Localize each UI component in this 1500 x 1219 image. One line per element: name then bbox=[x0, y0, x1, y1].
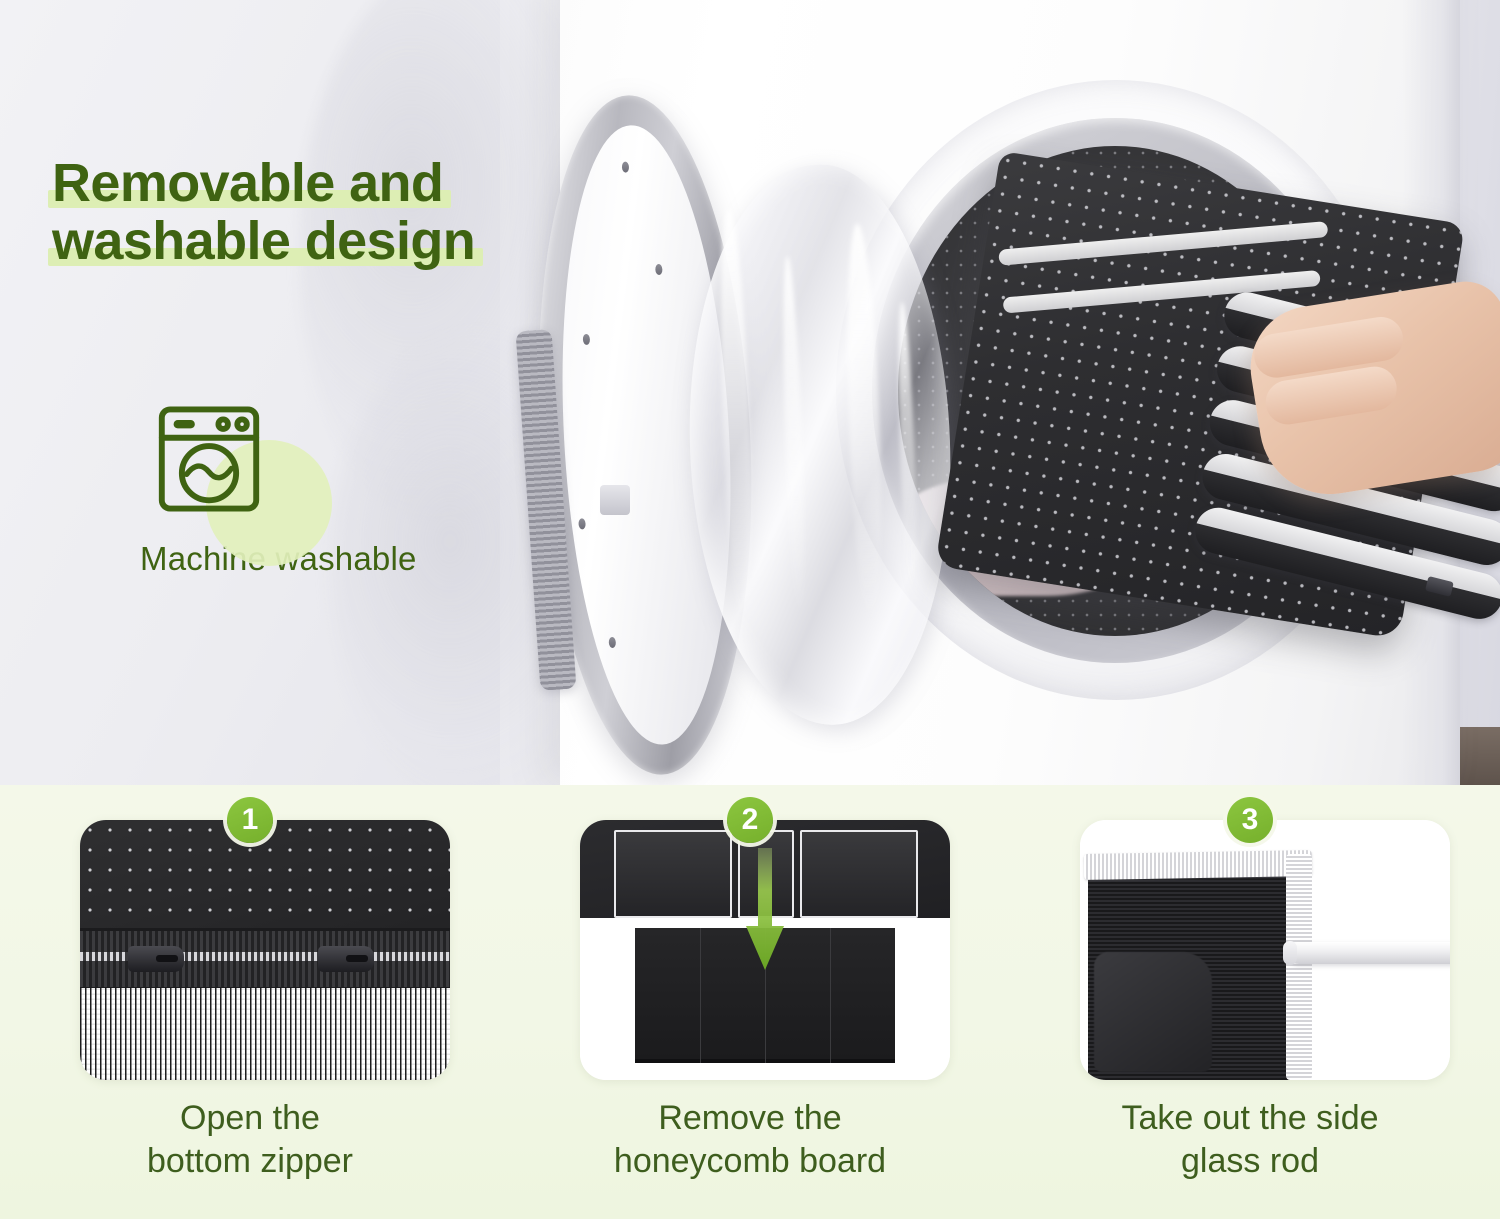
headline-block: Removable and washable design bbox=[52, 155, 572, 271]
step-1-caption-line-2: bottom zipper bbox=[0, 1140, 500, 1183]
headline-line-2: washable design bbox=[52, 213, 475, 269]
step-3-badge: 3 bbox=[1227, 797, 1273, 843]
step-1-mesh-fabric bbox=[80, 820, 450, 940]
glass-reflection bbox=[716, 208, 757, 629]
washing-machine-icon bbox=[150, 400, 268, 518]
steps-section: 1 Open the bottom zipper bbox=[0, 785, 1500, 1219]
step-3-caption-line-2: glass rod bbox=[1000, 1140, 1500, 1183]
binding-tape-side bbox=[1286, 854, 1312, 1080]
glass-rod-end bbox=[1283, 941, 1297, 965]
step-3-caption-line-1: Take out the side bbox=[1000, 1097, 1500, 1140]
step-2-caption: Remove the honeycomb board bbox=[500, 1097, 1000, 1183]
step-2: 2 Remove the honeycomb board bbox=[500, 785, 1000, 1219]
machine-washable-feature: Machine washable bbox=[140, 400, 470, 578]
step-3-caption: Take out the side glass rod bbox=[1000, 1097, 1500, 1183]
step-1: 1 Open the bottom zipper bbox=[0, 785, 500, 1219]
step-3: 3 Take out the side glass rod bbox=[1000, 785, 1500, 1219]
headline-line-2-text: washable design bbox=[52, 211, 475, 271]
glass-reflection bbox=[842, 223, 886, 624]
step-1-image-card bbox=[80, 820, 450, 1080]
board-seam bbox=[830, 928, 831, 1063]
glass-reflection bbox=[895, 302, 919, 602]
step-1-badge: 1 bbox=[227, 797, 273, 843]
hero-section: Removable and washable design Machine wa… bbox=[0, 0, 1500, 785]
fabric-fold-sheen bbox=[1094, 952, 1212, 1072]
binding-tape-top bbox=[1084, 850, 1312, 880]
step-2-caption-line-2: honeycomb board bbox=[500, 1140, 1000, 1183]
step-3-image-card bbox=[1080, 820, 1450, 1080]
zipper-slider-right bbox=[318, 946, 374, 972]
step-1-net-mesh bbox=[80, 988, 450, 1080]
step-2-caption-line-1: Remove the bbox=[500, 1097, 1000, 1140]
honeycomb-panel-left bbox=[614, 830, 732, 918]
headline-line-1-text: Removable and bbox=[52, 153, 443, 213]
honeycomb-panel-right bbox=[800, 830, 918, 918]
glass-rod bbox=[1288, 942, 1450, 964]
door-latch bbox=[600, 485, 630, 515]
fabric-dot-texture bbox=[80, 820, 450, 940]
step-1-caption-line-1: Open the bbox=[0, 1097, 500, 1140]
board-seam bbox=[700, 928, 701, 1063]
step-2-image-card bbox=[580, 820, 950, 1080]
step-2-badge: 2 bbox=[727, 797, 773, 843]
step-1-caption: Open the bottom zipper bbox=[0, 1097, 500, 1183]
zipper-slider-left bbox=[128, 946, 184, 972]
headline-line-1: Removable and bbox=[52, 155, 443, 211]
down-arrow-icon bbox=[742, 848, 788, 973]
glass-reflection bbox=[779, 256, 808, 616]
